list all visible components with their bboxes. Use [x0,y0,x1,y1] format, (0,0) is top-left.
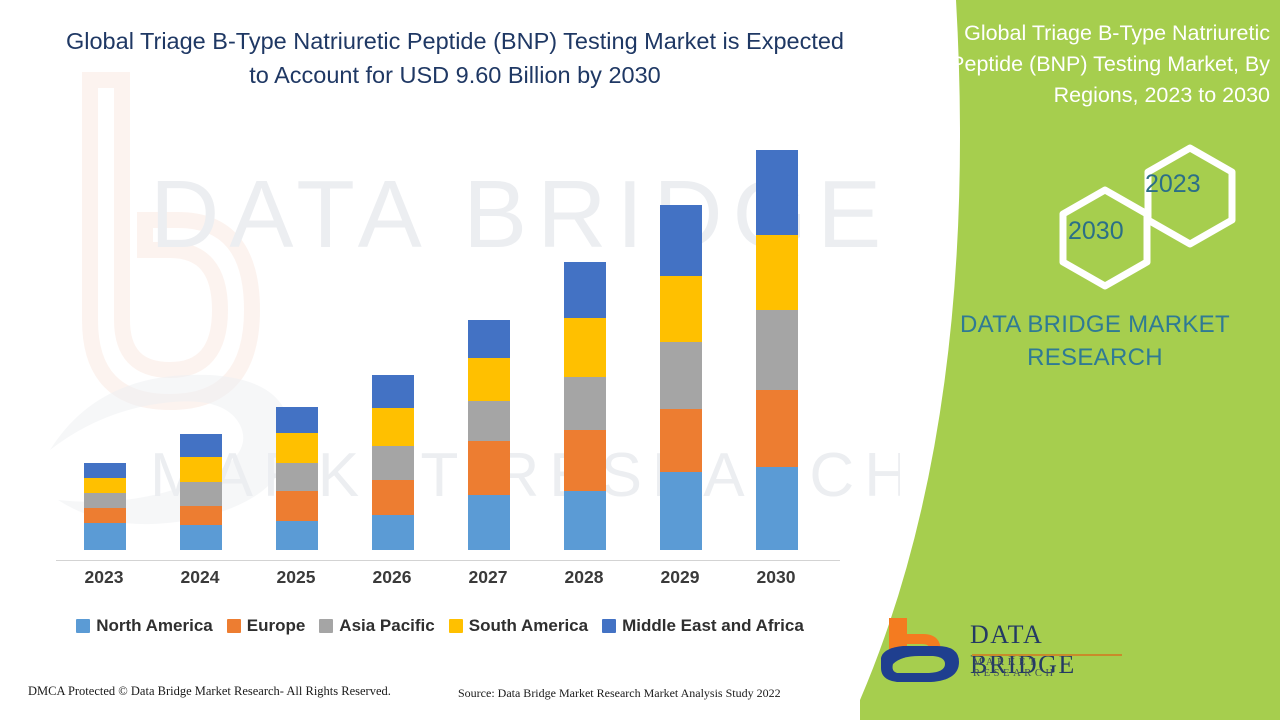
hexagon-outline-icon [940,140,1270,290]
bar-segment-europe[interactable] [276,491,318,521]
bar-segment-south-america[interactable] [180,457,222,482]
right-green-panel: Global Triage B-Type Natriuretic Peptide… [860,0,1280,720]
bar-segment-north-america[interactable] [756,467,798,550]
bar-segment-south-america[interactable] [84,478,126,493]
footer-source: Source: Data Bridge Market Research Mark… [458,686,781,701]
legend-label: South America [469,616,588,636]
page-title: Global Triage B-Type Natriuretic Peptide… [60,24,850,92]
legend-item-middle-east-and-africa[interactable]: Middle East and Africa [602,616,804,636]
bar-segment-south-america[interactable] [564,318,606,378]
legend-swatch-icon [602,619,616,633]
bar-stack[interactable] [756,150,798,550]
stacked-bar-chart: 20232024202520262027202820292030 [40,150,840,570]
bar-segment-south-america[interactable] [276,433,318,463]
company-logo: DATA BRIDGE MARKET RESEARCH [875,612,1125,692]
x-axis-label-2028: 2028 [536,567,632,588]
bar-stack[interactable] [180,434,222,550]
bar-segment-middle-east-and-africa[interactable] [468,320,510,358]
legend-label: North America [96,616,213,636]
x-axis-line [56,560,840,561]
bar-segment-middle-east-and-africa[interactable] [756,150,798,235]
x-axis-label-2030: 2030 [728,567,824,588]
bar-segment-middle-east-and-africa[interactable] [84,463,126,478]
legend-swatch-icon [227,619,241,633]
bar-segment-asia-pacific[interactable] [468,401,510,441]
legend-item-europe[interactable]: Europe [227,616,306,636]
bar-segment-middle-east-and-africa[interactable] [372,375,414,408]
bar-segment-europe[interactable] [660,409,702,472]
legend-label: Middle East and Africa [622,616,804,636]
bar-segment-north-america[interactable] [660,472,702,550]
year-hexagons: 2023 2030 [940,140,1270,290]
bar-segment-europe[interactable] [84,508,126,524]
legend-swatch-icon [76,619,90,633]
hexagon-label-start-year: 2023 [1145,170,1201,199]
hexagon-label-end-year: 2030 [1068,217,1124,246]
bar-segment-asia-pacific[interactable] [756,310,798,390]
bar-segment-north-america[interactable] [276,521,318,550]
bar-stack[interactable] [84,463,126,550]
logo-subtitle-text: MARKET RESEARCH [973,657,1125,679]
chart-legend: North AmericaEuropeAsia PacificSouth Ame… [40,616,840,636]
bar-segment-south-america[interactable] [372,408,414,446]
legend-item-asia-pacific[interactable]: Asia Pacific [319,616,434,636]
bar-stack[interactable] [660,205,702,550]
x-axis-label-2026: 2026 [344,567,440,588]
bar-segment-asia-pacific[interactable] [180,482,222,507]
bar-segment-asia-pacific[interactable] [564,377,606,430]
bar-segment-europe[interactable] [180,506,222,525]
bar-segment-middle-east-and-africa[interactable] [660,205,702,276]
bar-segment-europe[interactable] [468,441,510,494]
bar-segment-europe[interactable] [564,430,606,491]
bar-segment-south-america[interactable] [660,276,702,342]
bar-segment-asia-pacific[interactable] [84,493,126,508]
legend-swatch-icon [319,619,333,633]
data-bridge-logo-icon [875,612,965,688]
bar-segment-north-america[interactable] [372,515,414,550]
x-axis-label-2027: 2027 [440,567,536,588]
bar-segment-middle-east-and-africa[interactable] [180,434,222,457]
bar-segment-north-america[interactable] [84,523,126,550]
legend-label: Europe [247,616,306,636]
panel-brand-text: DATA BRIDGE MARKET RESEARCH [920,308,1270,374]
bar-segment-asia-pacific[interactable] [660,342,702,409]
footer-copyright: DMCA Protected © Data Bridge Market Rese… [28,684,391,699]
bar-segment-middle-east-and-africa[interactable] [564,262,606,317]
bar-segment-asia-pacific[interactable] [276,463,318,492]
bar-stack[interactable] [372,375,414,550]
legend-item-south-america[interactable]: South America [449,616,588,636]
legend-label: Asia Pacific [339,616,434,636]
x-axis-label-2024: 2024 [152,567,248,588]
bar-segment-south-america[interactable] [468,358,510,401]
logo-divider [972,654,1122,656]
bar-stack[interactable] [564,262,606,550]
bar-segment-south-america[interactable] [756,235,798,310]
bar-segment-north-america[interactable] [180,525,222,550]
bar-segment-asia-pacific[interactable] [372,446,414,480]
bar-stack[interactable] [276,407,318,550]
legend-item-north-america[interactable]: North America [76,616,213,636]
x-axis-label-2023: 2023 [56,567,152,588]
bar-segment-north-america[interactable] [468,495,510,550]
bar-segment-europe[interactable] [756,390,798,467]
legend-swatch-icon [449,619,463,633]
panel-title: Global Triage B-Type Natriuretic Peptide… [940,18,1270,111]
bar-segment-europe[interactable] [372,480,414,515]
chart-plot-area: 20232024202520262027202820292030 [40,150,840,560]
x-axis-label-2025: 2025 [248,567,344,588]
bar-segment-middle-east-and-africa[interactable] [276,407,318,432]
x-axis-label-2029: 2029 [632,567,728,588]
bar-segment-north-america[interactable] [564,491,606,550]
bar-stack[interactable] [468,320,510,550]
